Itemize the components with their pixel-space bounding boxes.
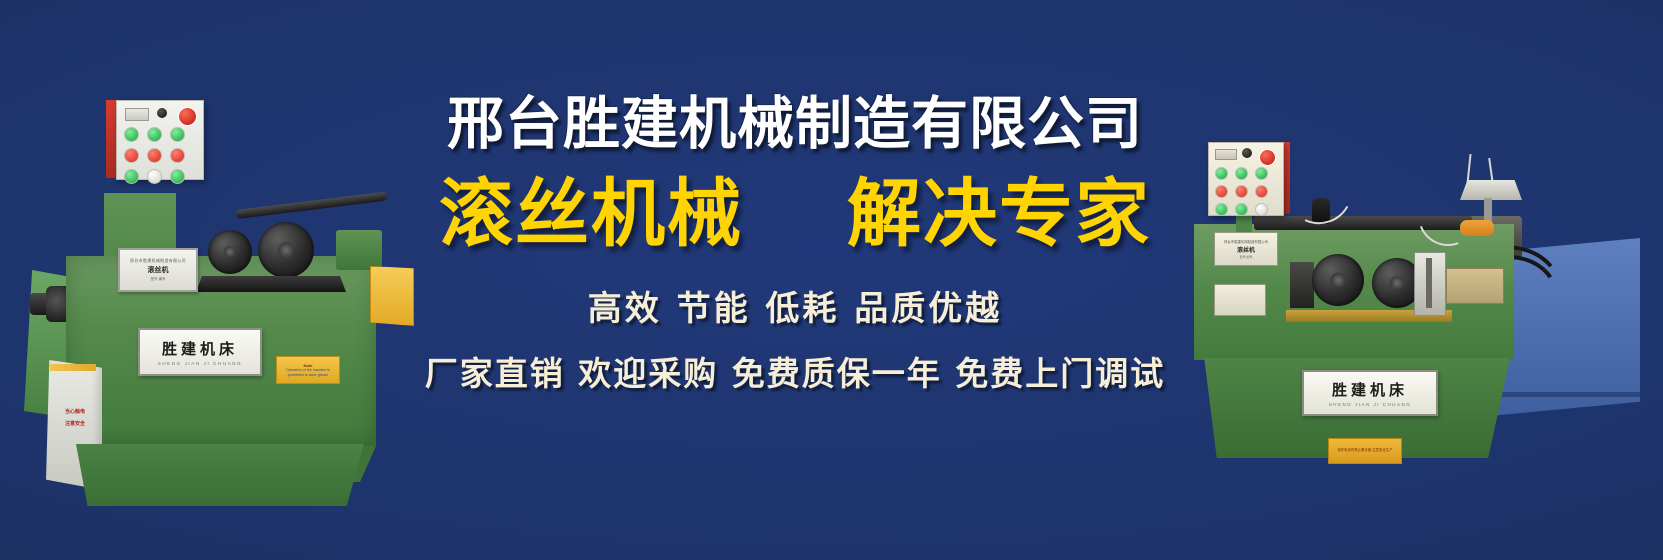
panel-button-icon (170, 169, 185, 184)
panel-button-icon (170, 127, 185, 142)
left-machine-cabinet-strip (50, 364, 96, 371)
panel-display-icon (125, 108, 149, 121)
panel-button-icon (147, 169, 162, 184)
right-machine-antenna (1466, 154, 1471, 184)
panel-button-icon (147, 127, 162, 142)
panel-button-icon (1215, 167, 1228, 180)
left-machine-control-panel (116, 100, 204, 180)
panel-button-grid (1215, 167, 1268, 216)
panel-button-icon (1255, 203, 1268, 216)
left-machine-cabinet-text: 当心触电 注意安全 (54, 406, 96, 430)
left-machine-spec-plate: 邢台市胜建机械制造有限公司 滚丝机 型号 编号 (118, 248, 198, 292)
left-machine-rail (196, 276, 346, 292)
panel-selector-knob-icon (1242, 148, 1252, 158)
left-machine-base-skirt (76, 444, 364, 506)
right-machine-orange-fitting (1460, 220, 1494, 236)
spec-plate-model: 滚丝机 (1237, 245, 1255, 254)
brand-plate-chinese: 胜建机床 (1332, 379, 1408, 400)
panel-button-icon (1255, 185, 1268, 198)
panel-button-icon (1215, 203, 1228, 216)
panel-button-icon (147, 148, 162, 163)
right-machine-roller-die (1312, 254, 1364, 306)
headline-right: 解决专家 (847, 177, 1151, 251)
spec-plate-model: 滚丝机 (148, 265, 169, 275)
right-machine-warning-label: 操作机床时禁止戴手套 注意安全生产 (1328, 438, 1402, 464)
cabinet-text-line-1: 当心触电 (54, 406, 96, 418)
right-machine-brand-plate: 胜建机床 SHENG JIAN JI CHUANG (1302, 370, 1438, 416)
warning-label-text: 操作机床时禁止戴手套 注意安全生产 (1337, 448, 1392, 453)
headline-left: 滚丝机械 (439, 177, 743, 251)
brand-plate-pinyin: SHENG JIAN JI CHUANG (158, 361, 243, 366)
left-machine-note-label: Note Operation of the machine is prohibi… (276, 356, 340, 384)
right-machine-secondary-plate (1214, 284, 1266, 316)
right-machine-control-panel (1208, 142, 1284, 216)
subtitle-line-2: 厂家直销 欢迎采购 免费质保一年 免费上门调试 (400, 347, 1190, 395)
right-machine-tool-rest (1460, 180, 1522, 200)
panel-button-icon (1235, 167, 1248, 180)
panel-button-icon (1215, 185, 1228, 198)
left-machine-roller-die (208, 230, 252, 274)
panel-button-icon (1255, 167, 1268, 180)
right-machine-tank-base (1490, 392, 1640, 397)
thread-rolling-machine-right-image: 邢台市胜建机械制造有限公司 滚丝机 型号 编号 胜建机床 SHENG JIAN … (1168, 120, 1660, 460)
panel-button-icon (124, 169, 139, 184)
thread-rolling-machine-left-image: 邢台市胜建机械制造有限公司 滚丝机 型号 编号 胜建机床 SHENG JIAN … (18, 88, 408, 478)
left-machine-brand-plate: 胜建机床 SHENG JIAN JI CHUANG (138, 328, 262, 376)
spec-plate-company: 邢台市胜建机械制造有限公司 (1224, 239, 1268, 244)
spec-plate-company: 邢台市胜建机械制造有限公司 (130, 258, 186, 264)
subtitle-line-1: 高效 节能 低耗 品质优越 (400, 281, 1190, 330)
brand-plate-chinese: 胜建机床 (162, 338, 238, 359)
left-machine-roller-die (258, 222, 314, 278)
emergency-stop-icon (178, 107, 197, 126)
spec-plate-fields: 型号 编号 (1240, 255, 1253, 259)
left-machine-feed-bar (235, 192, 387, 219)
right-machine-tool-stem (1484, 198, 1492, 222)
panel-button-icon (1235, 185, 1248, 198)
promotional-banner: 邢台市胜建机械制造有限公司 滚丝机 型号 编号 胜建机床 SHENG JIAN … (0, 0, 1663, 560)
emergency-stop-icon (1259, 149, 1276, 166)
right-machine-spec-plate: 邢台市胜建机械制造有限公司 滚丝机 型号 编号 (1214, 232, 1278, 266)
panel-button-icon (170, 148, 185, 163)
cabinet-text-line-2: 注意安全 (54, 418, 96, 430)
company-title: 邢台胜建机械制造有限公司 (400, 95, 1190, 155)
panel-display-icon (1215, 149, 1237, 160)
left-machine-motor (336, 230, 382, 270)
banner-text-block: 邢台胜建机械制造有限公司 滚丝机械 解决专家 高效 节能 低耗 品质优越 厂家直… (400, 95, 1190, 395)
left-machine-spindle-area (186, 216, 386, 286)
right-machine-die-holder (1290, 262, 1314, 308)
spec-plate-fields: 型号 编号 (151, 277, 166, 282)
note-label-body: Operation of the machine is prohibited t… (277, 368, 339, 377)
panel-selector-knob-icon (157, 108, 167, 118)
brand-plate-pinyin: SHENG JIAN JI CHUANG (1329, 402, 1412, 407)
panel-button-icon (124, 148, 139, 163)
panel-button-icon (1235, 203, 1248, 216)
panel-button-icon (124, 127, 139, 142)
headline-row: 滚丝机械 解决专家 (400, 177, 1190, 251)
right-machine-brass-plate (1446, 268, 1504, 304)
panel-button-grid (124, 127, 185, 184)
right-machine-cylinder-rod (1426, 258, 1432, 308)
